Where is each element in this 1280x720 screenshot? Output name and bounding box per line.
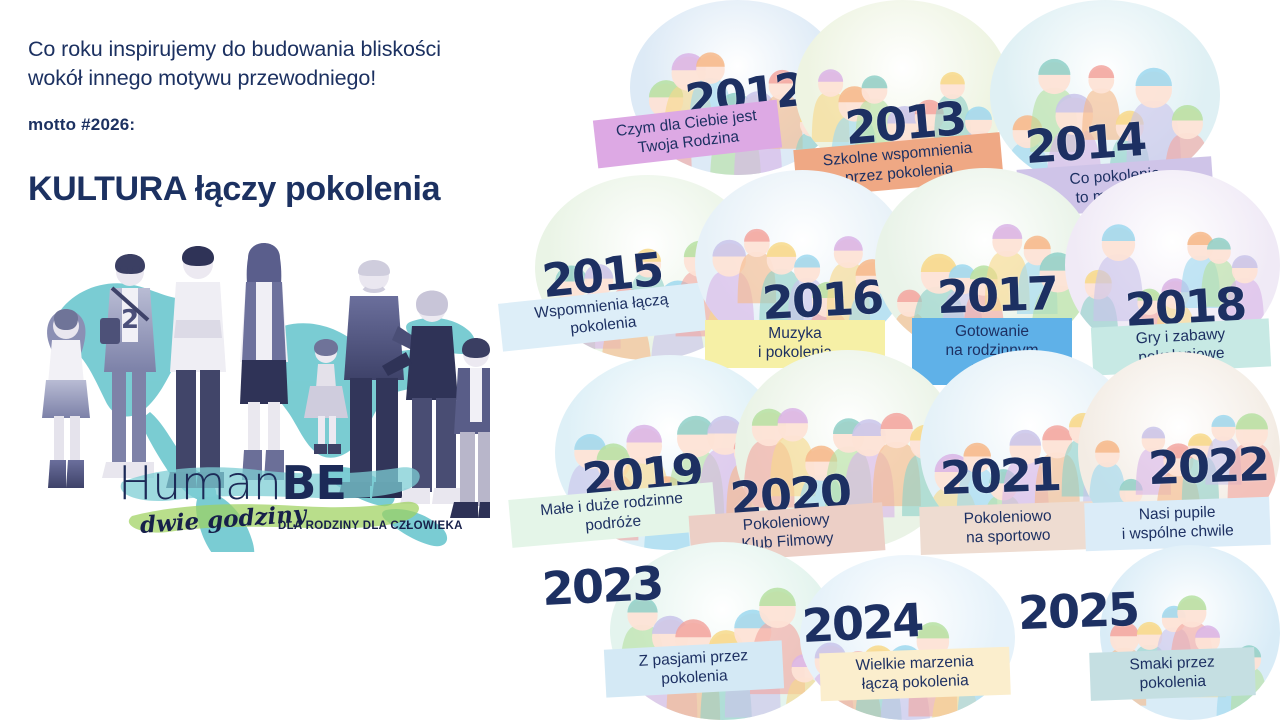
logo-word-light: Human: [118, 456, 281, 510]
page-title: KULTURA łączy pokolenia: [28, 170, 440, 209]
logo-tagline: DLA RODZINY DLA CZŁOWIEKA: [278, 520, 463, 532]
humanbe-logo: HumanBE dwie godziny DLA RODZINY DLA CZŁ…: [118, 452, 448, 544]
timeline-collage: 2012Czym dla Ciebie jest Twoja Rodzina20…: [500, 0, 1280, 720]
intro-line-2: wokół innego motywu przewodniego!: [28, 64, 528, 93]
collage-entry-2025: 2025Smaki przez pokolenia: [500, 0, 1280, 720]
intro-line-1: Co roku inspirujemy do budowania bliskoś…: [28, 35, 528, 64]
motto-label: motto #2026:: [28, 115, 135, 135]
left-text-panel: Co roku inspirujemy do budowania bliskoś…: [0, 0, 545, 720]
theme-label-2025: Smaki przez pokolenia: [1089, 647, 1256, 701]
intro-text: Co roku inspirujemy do budowania bliskoś…: [28, 35, 528, 92]
year-number-2025: 2025: [1017, 586, 1139, 636]
